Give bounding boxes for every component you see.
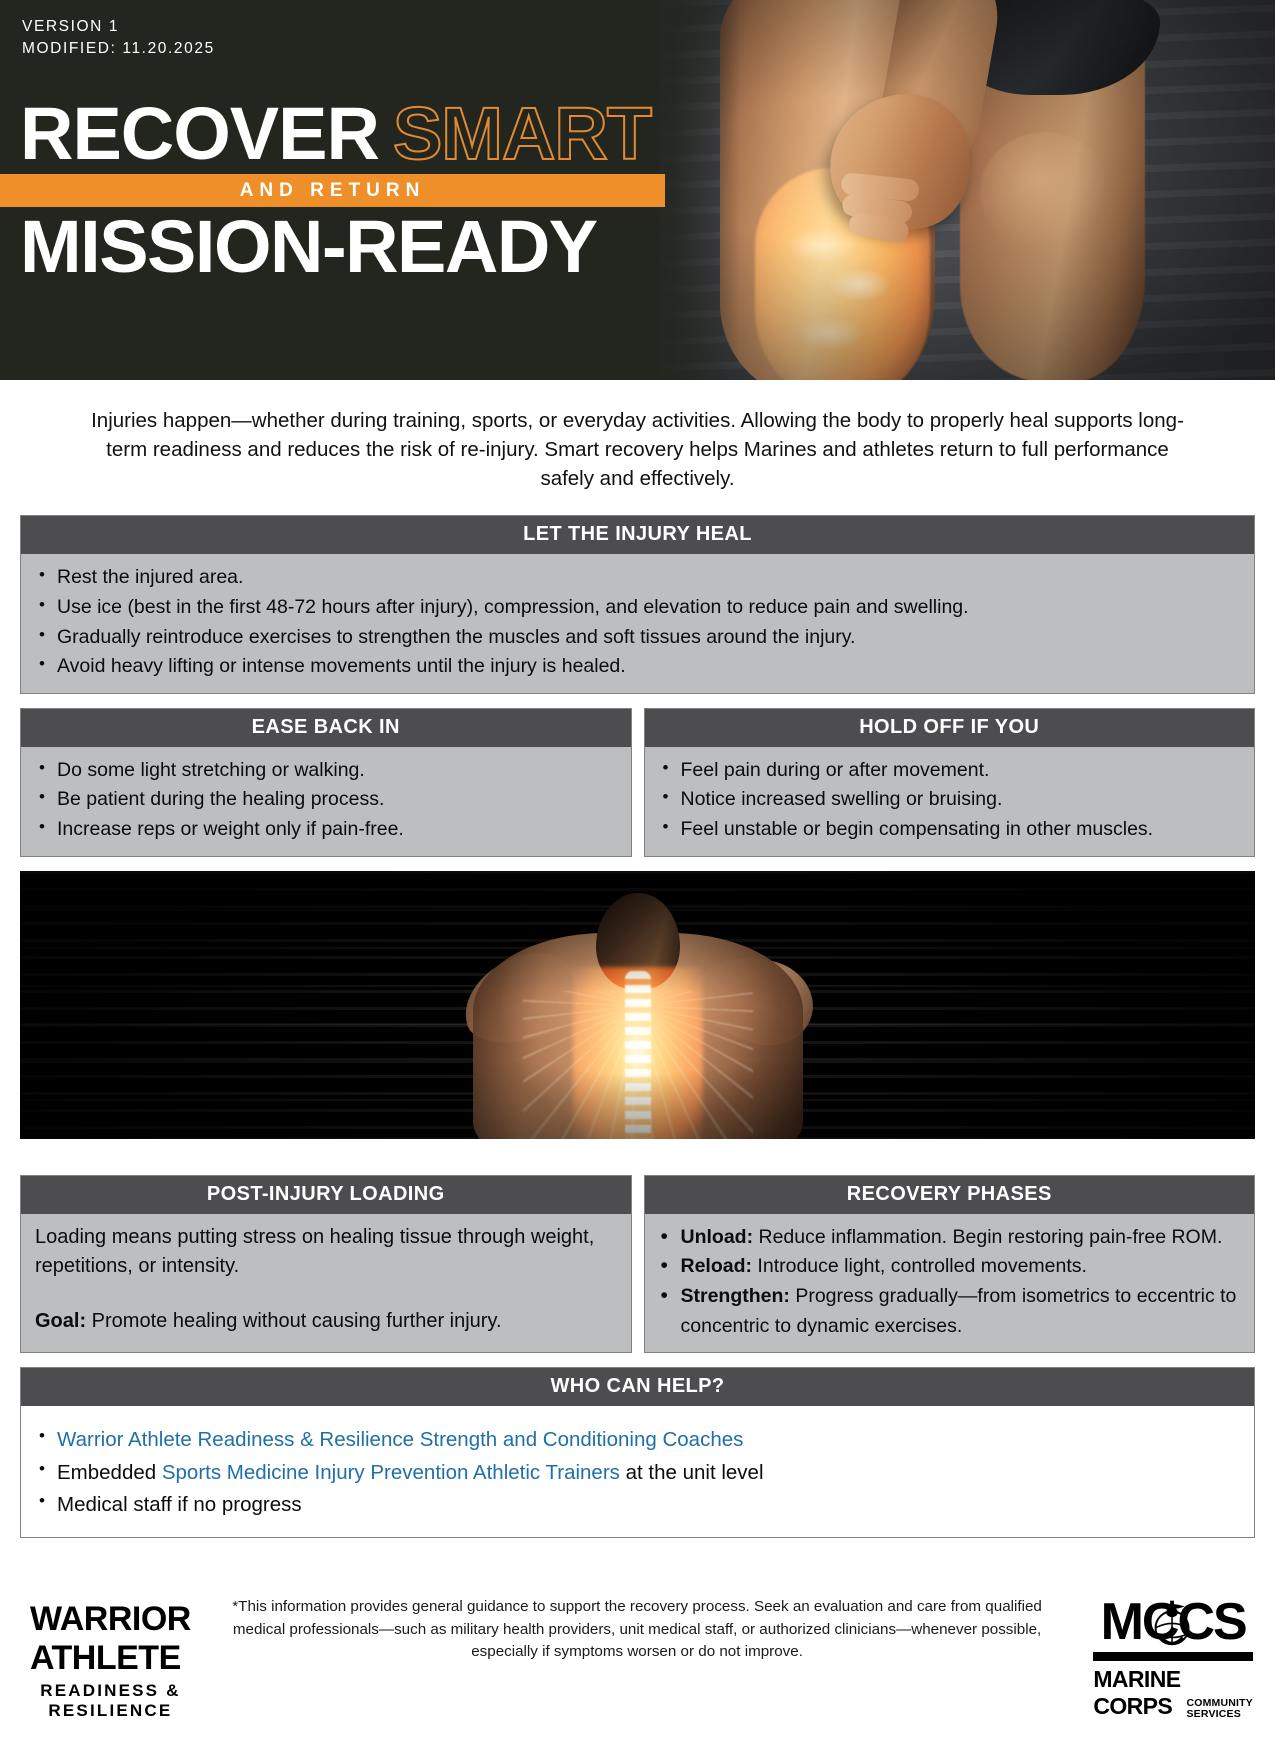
list-item: Warrior Athlete Readiness & Resilience S… [35, 1424, 1240, 1456]
warrior-athlete-wordmark: WARRIOR ATHLETE [30, 1600, 191, 1678]
panels-container: LET THE INJURY HEAL Rest the injured are… [0, 493, 1275, 856]
panel-body-let-the-injury-heal: Rest the injured area. Use ice (best in … [21, 554, 1254, 693]
list-item: Notice increased swelling or bruising. [659, 785, 1241, 815]
list-item: Rest the injured area. [35, 563, 1240, 593]
list-hold-off-if-you: Feel pain during or after movement. Noti… [659, 756, 1241, 845]
panel-let-the-injury-heal: LET THE INJURY HEAL Rest the injured are… [20, 515, 1255, 694]
hero-banner: VERSION 1 MODIFIED: 11.20.2025 RECOVERSM… [0, 0, 1275, 380]
item-post-text: at the unit level [620, 1461, 764, 1484]
list-item: Strengthen: Progress gradually—from isom… [659, 1282, 1241, 1341]
panel-body-ease-back-in: Do some light stretching or walking. Be … [21, 747, 631, 856]
list-let-the-injury-heal: Rest the injured area. Use ice (best in … [35, 563, 1240, 682]
list-item: Avoid heavy lifting or intense movements… [35, 652, 1240, 682]
list-item: Use ice (best in the first 48-72 hours a… [35, 593, 1240, 623]
title-line-2: MISSION-READY [0, 211, 700, 282]
phase-label: Unload: [681, 1226, 754, 1248]
spine-injury-photo [20, 871, 1255, 1139]
list-item: Unload: Reduce inflammation. Begin resto… [659, 1223, 1241, 1253]
item-pre-text: Medical staff if no progress [57, 1493, 302, 1516]
mccs-community-services-text: COMMUNITY SERVICES [1186, 1698, 1253, 1721]
mccs-services-text: SERVICES [1186, 1709, 1253, 1720]
mccs-logo: MCCS MARINE CORPS [1093, 1574, 1253, 1720]
panel-heading-recovery-phases: RECOVERY PHASES [645, 1176, 1255, 1214]
list-item: Medical staff if no progress [35, 1489, 1240, 1521]
panel-hold-off-if-you: HOLD OFF IF YOU Feel pain during or afte… [644, 708, 1256, 857]
title-recover-word: RECOVER [20, 92, 379, 175]
hero-knee-injury-photo [660, 0, 1275, 380]
panel-who-can-help: WHO CAN HELP? Warrior Athlete Readiness … [20, 1367, 1255, 1538]
disclaimer-text: *This information provides general guida… [191, 1574, 1094, 1664]
title-smart-word: SMART [393, 92, 651, 175]
hero-title-group: RECOVERSMART AND RETURN MISSION-READY [0, 100, 700, 282]
goal-label: Goal: [35, 1310, 86, 1332]
mccs-community-text: COMMUNITY [1186, 1698, 1253, 1709]
panel-body-hold-off-if-you: Feel pain during or after movement. Noti… [645, 747, 1255, 856]
version-block: VERSION 1 MODIFIED: 11.20.2025 [22, 16, 215, 60]
loading-paragraph: Loading means putting stress on healing … [35, 1223, 617, 1281]
panel-recovery-phases: RECOVERY PHASES Unload: Reduce inflammat… [644, 1175, 1256, 1354]
list-item: Be patient during the healing process. [35, 785, 617, 815]
mccs-marine-corps-text: MARINE CORPS [1093, 1666, 1180, 1720]
panel-row-ease-hold: EASE BACK IN Do some light stretching or… [20, 708, 1255, 857]
list-item: Feel pain during or after movement. [659, 756, 1241, 786]
panel-heading-let-the-injury-heal: LET THE INJURY HEAL [21, 516, 1254, 554]
panels-container-lower: POST-INJURY LOADING Loading means puttin… [0, 1153, 1275, 1539]
and-return-text: AND RETURN [240, 180, 426, 202]
link-strength-conditioning-coaches[interactable]: Warrior Athlete Readiness & Resilience S… [57, 1428, 743, 1451]
mccs-divider-rule [1093, 1652, 1253, 1661]
item-pre-text: Embedded [57, 1461, 162, 1484]
list-ease-back-in: Do some light stretching or walking. Be … [35, 756, 617, 845]
and-return-bar: AND RETURN [0, 174, 665, 207]
hero-vignette [660, 0, 1275, 380]
list-item: Feel unstable or begin compensating in o… [659, 815, 1241, 845]
warrior-athlete-logo: WARRIOR ATHLETE READINESS & RESILIENCE [22, 1574, 191, 1721]
panel-post-injury-loading: POST-INJURY LOADING Loading means puttin… [20, 1175, 632, 1354]
warrior-athlete-tagline: READINESS & RESILIENCE [30, 1681, 191, 1721]
panel-heading-who-can-help: WHO CAN HELP? [21, 1368, 1254, 1406]
panel-body-recovery-phases: Unload: Reduce inflammation. Begin resto… [645, 1214, 1255, 1353]
list-item: Increase reps or weight only if pain-fre… [35, 815, 617, 845]
list-who-can-help: Warrior Athlete Readiness & Resilience S… [35, 1424, 1240, 1521]
panel-heading-post-injury-loading: POST-INJURY LOADING [21, 1176, 631, 1214]
phase-text: Introduce light, controlled movements. [752, 1255, 1087, 1277]
list-item: Reload: Introduce light, controlled move… [659, 1252, 1241, 1282]
panel-body-post-injury-loading: Loading means putting stress on healing … [21, 1214, 631, 1347]
panel-body-who-can-help: Warrior Athlete Readiness & Resilience S… [21, 1406, 1254, 1537]
mccs-subtitle-group: MARINE CORPS COMMUNITY SERVICES [1093, 1666, 1253, 1720]
phase-label: Reload: [681, 1255, 753, 1277]
list-item: Gradually reintroduce exercises to stren… [35, 623, 1240, 653]
phase-label: Strengthen: [681, 1285, 790, 1307]
page-footer: WARRIOR ATHLETE READINESS & RESILIENCE *… [0, 1552, 1275, 1748]
link-sports-medicine-athletic-trainers[interactable]: Sports Medicine Injury Prevention Athlet… [162, 1461, 620, 1484]
intro-paragraph: Injuries happen—whether during training,… [30, 380, 1245, 493]
goal-text: Promote healing without causing further … [86, 1310, 501, 1332]
spine-photo-vignette [20, 871, 1255, 1139]
modified-date-text: MODIFIED: 11.20.2025 [22, 38, 215, 60]
eagle-globe-anchor-icon [1142, 1591, 1204, 1653]
panel-ease-back-in: EASE BACK IN Do some light stretching or… [20, 708, 632, 857]
list-recovery-phases: Unload: Reduce inflammation. Begin resto… [659, 1223, 1241, 1342]
panel-heading-ease-back-in: EASE BACK IN [21, 709, 631, 747]
loading-goal-paragraph: Goal: Promote healing without causing fu… [35, 1307, 617, 1336]
infographic-page: VERSION 1 MODIFIED: 11.20.2025 RECOVERSM… [0, 0, 1275, 1650]
title-line-1: RECOVERSMART [0, 100, 700, 168]
list-item: Do some light stretching or walking. [35, 756, 617, 786]
panel-row-loading-phases: POST-INJURY LOADING Loading means puttin… [20, 1175, 1255, 1354]
panel-heading-hold-off-if-you: HOLD OFF IF YOU [645, 709, 1255, 747]
version-text: VERSION 1 [22, 16, 215, 38]
phase-text: Reduce inflammation. Begin restoring pai… [753, 1226, 1222, 1248]
warrior-athlete-top-text: WARRIOR ATHLETE [30, 1600, 191, 1678]
list-item: Embedded Sports Medicine Injury Preventi… [35, 1457, 1240, 1489]
mccs-wordmark: MCCS [1093, 1596, 1253, 1648]
